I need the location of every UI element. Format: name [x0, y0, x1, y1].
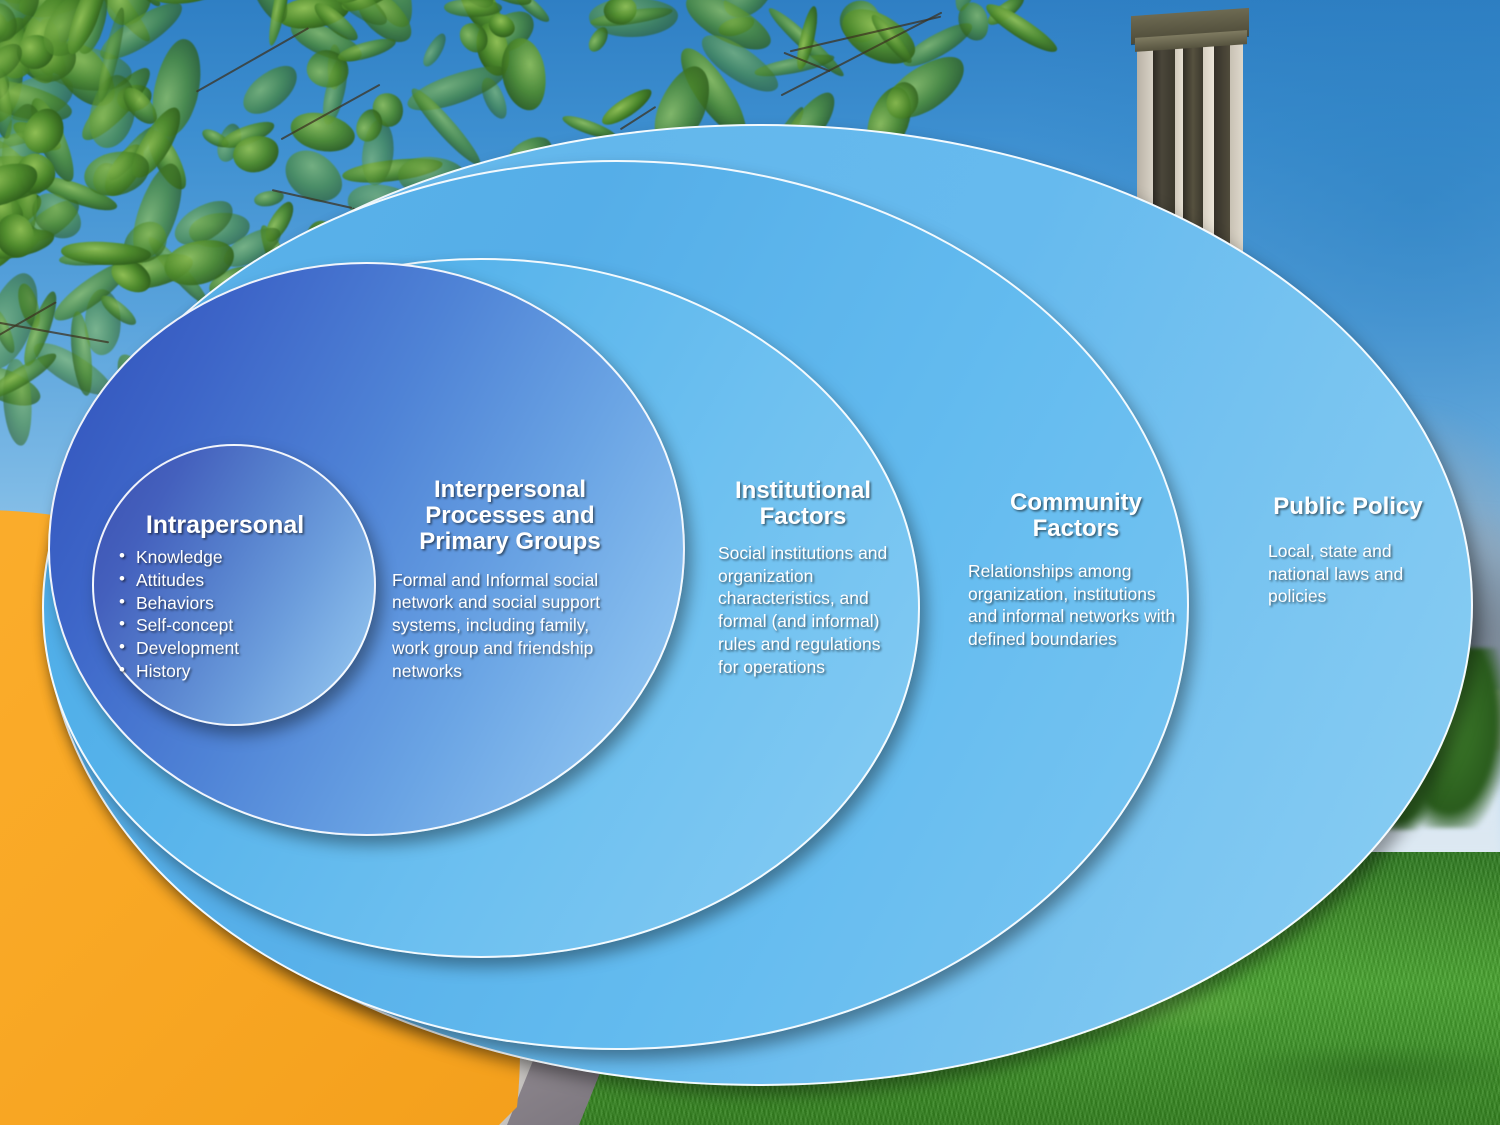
list-item-label: Behaviors: [136, 593, 214, 613]
level-heading-interpersonal: Interpersonal Processes and Primary Grou…: [392, 477, 628, 555]
list-item: • Behaviors: [136, 592, 340, 615]
leaf-cluster: [443, 0, 501, 17]
bullet-icon: •: [119, 636, 125, 658]
level-public-policy-text: Public Policy Local, state and national …: [1268, 494, 1428, 608]
level-interpersonal-text: Interpersonal Processes and Primary Grou…: [392, 477, 628, 682]
level-heading-public-policy: Public Policy: [1268, 494, 1428, 520]
bullet-icon: •: [119, 568, 125, 590]
level-heading-institutional: Institutional Factors: [718, 478, 888, 530]
list-item-label: Knowledge: [136, 547, 223, 567]
list-item: • Knowledge: [136, 546, 340, 569]
list-item: • Development: [136, 637, 340, 660]
level-body-interpersonal: Formal and Informal social network and s…: [392, 569, 628, 683]
level-body-institutional: Social institutions and organization cha…: [718, 542, 888, 679]
list-item-label: Attitudes: [136, 570, 204, 590]
social-ecological-model-diagram: Intrapersonal • Knowledge • Attitudes • …: [0, 0, 1500, 1125]
level-community-text: Community Factors Relationships among or…: [968, 490, 1184, 651]
bullet-icon: •: [119, 591, 125, 613]
level-heading-intrapersonal: Intrapersonal: [110, 512, 340, 539]
list-item-label: Development: [136, 638, 239, 658]
list-item: • Attitudes: [136, 569, 340, 592]
intrapersonal-bullet-list: • Knowledge • Attitudes • Behaviors • Se…: [110, 546, 340, 660]
level-body-community: Relationships among organization, instit…: [968, 560, 1184, 651]
intrapersonal-continuation: History: [110, 660, 340, 683]
level-intrapersonal-text: Intrapersonal • Knowledge • Attitudes • …: [110, 512, 340, 683]
leaf-cluster: [419, 30, 450, 69]
level-body-public-policy: Local, state and national laws and polic…: [1268, 540, 1428, 608]
list-item: • Self-concept: [136, 614, 340, 637]
bullet-icon: •: [119, 659, 125, 681]
level-heading-community: Community Factors: [968, 490, 1184, 542]
level-institutional-text: Institutional Factors Social institution…: [718, 478, 888, 678]
bullet-icon: •: [119, 613, 125, 635]
list-item-label: Self-concept: [136, 615, 233, 635]
bullet-icon: •: [119, 545, 125, 567]
leaf-cluster: [236, 57, 307, 123]
